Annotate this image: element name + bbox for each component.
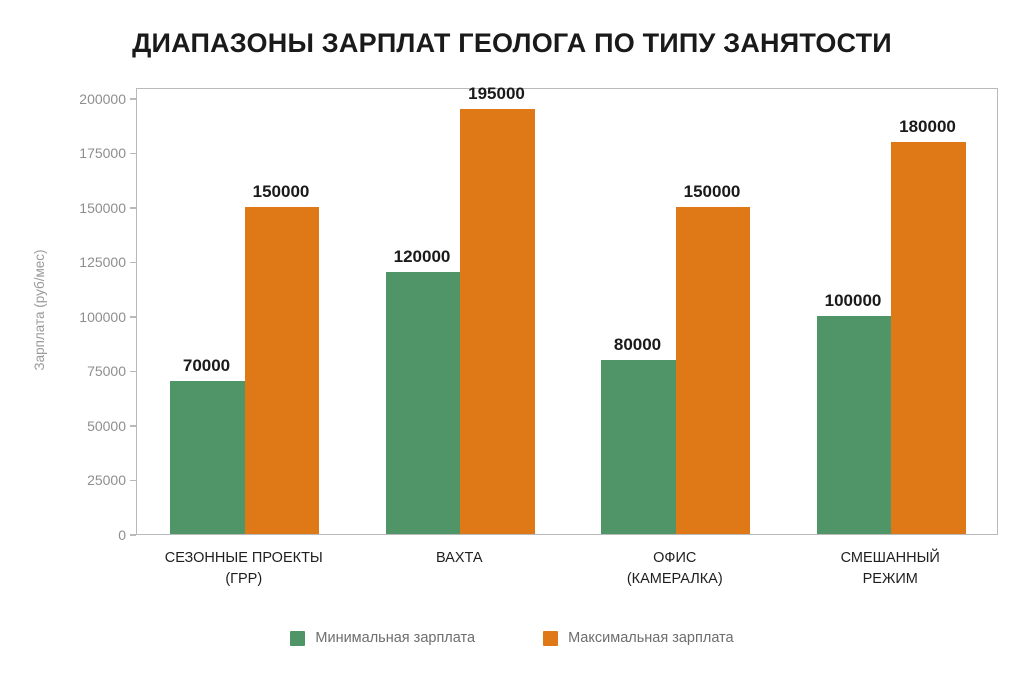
legend-swatch-icon — [543, 631, 558, 646]
y-axis-tick-label: 50000 — [6, 418, 126, 434]
legend-swatch-icon — [290, 631, 305, 646]
y-axis-tick-label: 75000 — [6, 363, 126, 379]
legend-label: Максимальная зарплата — [568, 630, 734, 646]
y-axis-tick-label: 175000 — [6, 145, 126, 161]
y-axis-tick-label: 150000 — [6, 200, 126, 216]
y-axis-tick-label: 125000 — [6, 254, 126, 270]
y-axis-tick-label: 25000 — [6, 472, 126, 488]
x-axis-category-label-3: СМЕШАННЫЙ РЕЖИМ — [760, 548, 1020, 590]
bar-value-label: 150000 — [684, 182, 741, 202]
chart-title: ДИАПАЗОНЫ ЗАРПЛАТ ГЕОЛОГА ПО ТИПУ ЗАНЯТО… — [0, 28, 1024, 59]
legend-item-1[interactable]: Максимальная зарплата — [543, 630, 734, 646]
bar-min-0 — [170, 381, 245, 534]
bar-min-1 — [386, 272, 461, 534]
bar-value-label: 180000 — [899, 117, 956, 137]
bar-value-label: 100000 — [825, 291, 882, 311]
bar-min-3 — [817, 316, 892, 534]
legend-label: Минимальная зарплата — [315, 630, 475, 646]
y-axis-tick-label: 200000 — [6, 91, 126, 107]
legend-item-0[interactable]: Минимальная зарплата — [290, 630, 475, 646]
bar-max-3 — [891, 142, 966, 534]
bar-value-label: 120000 — [394, 247, 451, 267]
y-axis-tick-label: 0 — [6, 527, 126, 543]
bar-value-label: 80000 — [614, 335, 661, 355]
bar-value-label: 150000 — [253, 182, 310, 202]
bar-max-0 — [245, 207, 320, 534]
bar-max-2 — [676, 207, 751, 534]
salary-bar-chart: ДИАПАЗОНЫ ЗАРПЛАТ ГЕОЛОГА ПО ТИПУ ЗАНЯТО… — [0, 0, 1024, 683]
bar-value-label: 195000 — [468, 84, 525, 104]
bar-min-2 — [601, 360, 676, 534]
bar-max-1 — [460, 109, 535, 534]
plot-area — [136, 88, 998, 535]
chart-legend: Минимальная зарплатаМаксимальная зарплат… — [0, 630, 1024, 646]
bar-value-label: 70000 — [183, 356, 230, 376]
y-axis-tick-label: 100000 — [6, 309, 126, 325]
